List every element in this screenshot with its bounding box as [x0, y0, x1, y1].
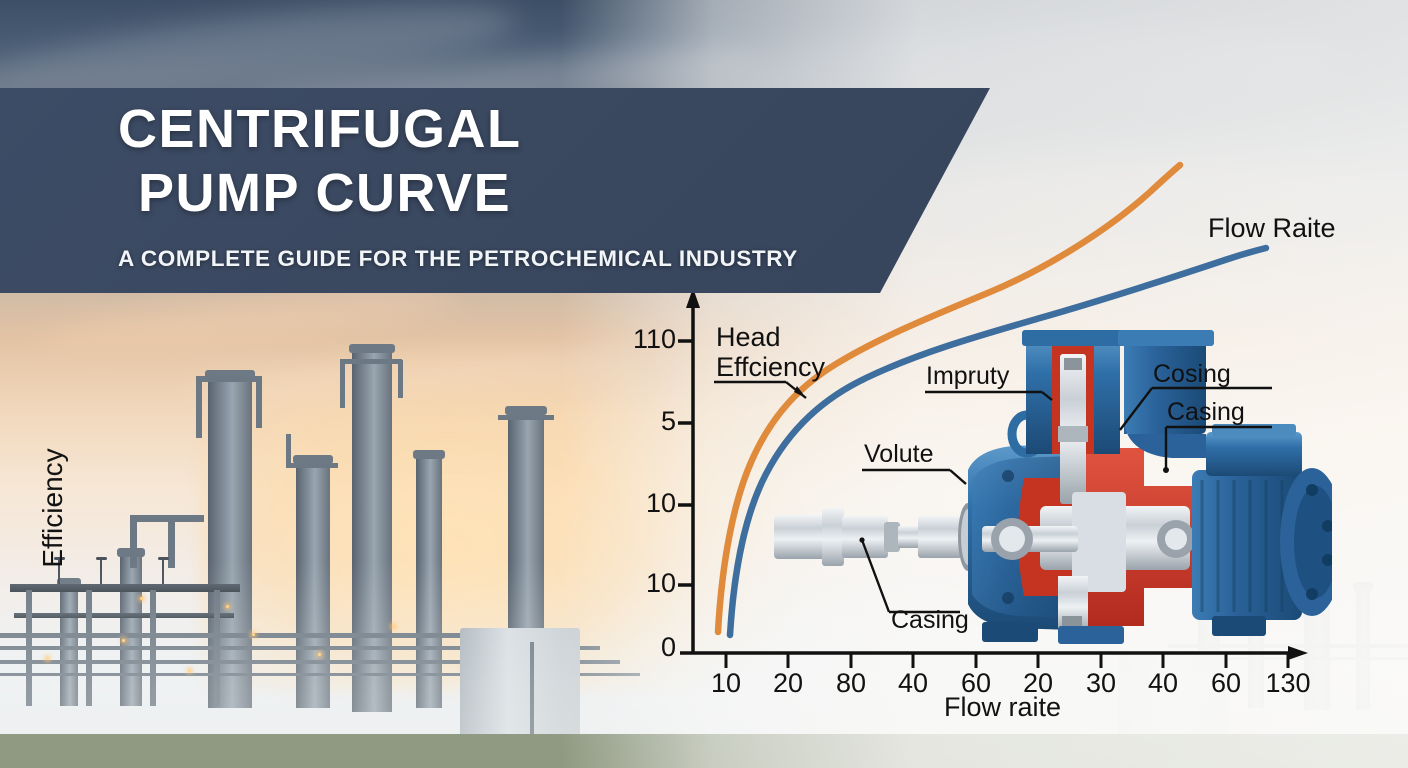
y-tick-label: 10 — [614, 568, 676, 599]
annotation-efficiency: Effciency — [716, 352, 825, 383]
x-tick-label: 60 — [1196, 668, 1256, 699]
pump-callout-impruty: Impruty — [926, 362, 1009, 391]
y-tick-label: 10 — [614, 488, 676, 519]
y-axis — [678, 288, 700, 653]
blue-curve-flow-rate — [730, 248, 1266, 635]
y-tick-label: 110 — [614, 324, 676, 355]
x-tick-label: 20 — [1008, 668, 1068, 699]
x-tick-label: 20 — [758, 668, 818, 699]
pump-callout-casing-left: Casing — [891, 606, 969, 635]
annotation-head: Head — [716, 322, 781, 353]
x-tick-label: 10 — [696, 668, 756, 699]
page-subtitle: A COMPLETE GUIDE FOR THE PETROCHEMICAL I… — [118, 246, 798, 272]
poster-canvas: CENTRIFUGAL PUMP CURVE A COMPLETE GUIDE … — [0, 0, 1408, 768]
pump-callout-cosing: Cosing — [1153, 360, 1231, 389]
annotation-flow-raite: Flow Raite — [1208, 213, 1336, 244]
x-tick-label: 130 — [1254, 668, 1322, 699]
y-tick-label: 5 — [614, 406, 676, 437]
y-tick-label: 0 — [614, 632, 676, 663]
page-title-line1: CENTRIFUGAL — [118, 100, 521, 158]
x-tick-label: 60 — [946, 668, 1006, 699]
page-title-line2: PUMP CURVE — [138, 164, 511, 222]
x-tick-label: 80 — [821, 668, 881, 699]
x-tick-label: 40 — [883, 668, 943, 699]
pump-callout-volute: Volute — [864, 440, 934, 469]
x-tick-label: 30 — [1071, 668, 1131, 699]
x-tick-label: 40 — [1133, 668, 1193, 699]
pump-callout-casing-right: Casing — [1167, 398, 1245, 427]
y-axis-title: Efficiency — [37, 433, 69, 583]
x-axis — [680, 646, 1308, 668]
